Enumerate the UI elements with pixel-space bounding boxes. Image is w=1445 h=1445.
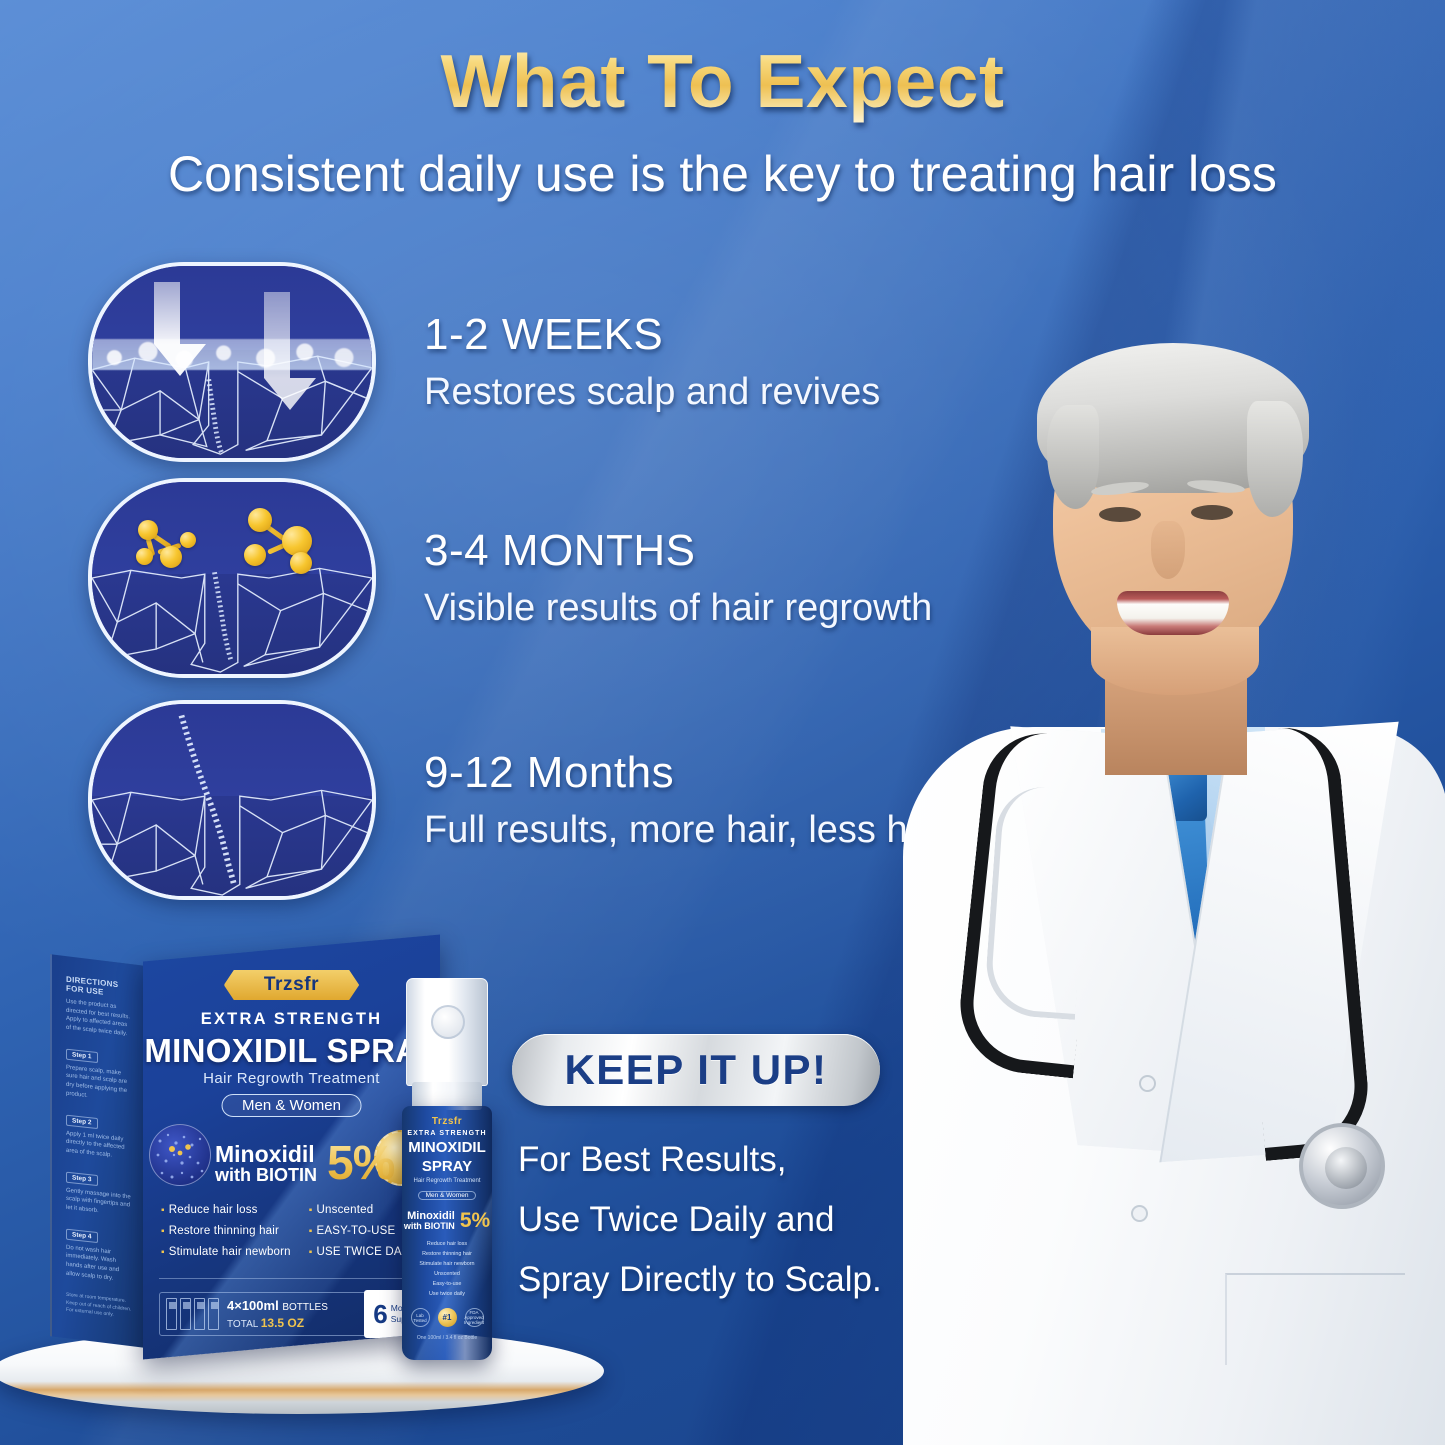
- bottle-benefit-item: Easy-to-use: [402, 1279, 492, 1289]
- lab-coat-button: [1133, 1207, 1146, 1220]
- package-product-name: MINOXIDIL SPRAY: [143, 1032, 440, 1070]
- bottle-benefit-item: Reduce hair loss: [402, 1239, 492, 1249]
- absorption-arrow-left: [154, 282, 180, 376]
- bottle-audience: Men & Women: [418, 1191, 477, 1200]
- bottle-volume-footer: One 100ml / 3.4 fl oz Bottle: [402, 1335, 492, 1341]
- package-particle-circle: [149, 1124, 211, 1186]
- bottle-benefit-item: Use twice daily: [402, 1289, 492, 1299]
- package-active-line1: Minoxidil: [215, 1142, 317, 1166]
- scalp-absorption-icon: [88, 262, 376, 462]
- direction-step-1-label: Step 1: [66, 1048, 98, 1062]
- bottle-extra-strength: EXTRA STRENGTH: [402, 1130, 492, 1137]
- package-active-ingredient: Minoxidil with BIOTIN 5%: [215, 1136, 394, 1191]
- foam-layer: [92, 339, 372, 370]
- package-benefit-item: Reduce hair loss: [161, 1204, 291, 1216]
- timeline-step-3: 9-12 Months Full results, more hair, les…: [88, 700, 1028, 900]
- package-total-label: TOTAL: [227, 1319, 258, 1330]
- doctor-eye-right: [1191, 505, 1233, 520]
- timeline-period-2: 3-4 MONTHS: [424, 526, 932, 575]
- direction-step-2-label: Step 2: [66, 1114, 98, 1128]
- package-quantity-text: 4×100ml BOTTLES TOTAL 13.5 OZ: [227, 1298, 328, 1330]
- dermis-mesh-2: [92, 482, 372, 674]
- doctor-smile: [1117, 591, 1229, 635]
- vial-icon: [208, 1298, 219, 1330]
- package-extra-strength: EXTRA STRENGTH: [143, 1010, 440, 1029]
- lab-coat-button: [1141, 1077, 1154, 1090]
- package-bottles-count: 4×100ml: [227, 1298, 279, 1313]
- timeline-step-1: 1-2 WEEKS Restores scalp and revives: [88, 262, 880, 462]
- dermis-mesh-3: [92, 704, 372, 896]
- supply-number: 6: [373, 1299, 387, 1330]
- timeline-step-2-text: 3-4 MONTHS Visible results of hair regro…: [424, 526, 932, 631]
- timeline-period-1: 1-2 WEEKS: [424, 310, 880, 359]
- lab-coat-pocket: [1225, 1273, 1405, 1365]
- rank-one-badge: #1: [438, 1308, 457, 1327]
- doctor-chin: [1091, 627, 1259, 695]
- direction-step-2-text: Apply 1 ml twice daily directly to the a…: [66, 1129, 133, 1162]
- vial-icon: [194, 1298, 205, 1330]
- bottle-active-ingredient: Minoxidil with BIOTIN 5%: [402, 1209, 492, 1233]
- package-treatment: Hair Regrowth Treatment: [143, 1070, 440, 1087]
- timeline-description-1: Restores scalp and revives: [424, 371, 880, 415]
- bottle-benefit-item: Restore thinning hair: [402, 1249, 492, 1259]
- page-subtitle: Consistent daily use is the key to treat…: [0, 145, 1445, 203]
- package-active-line2: with BIOTIN: [215, 1166, 317, 1185]
- direction-step-1-text: Prepare scalp, make sure hair and scalp …: [66, 1063, 133, 1105]
- package-brand: Trzsfr: [224, 970, 359, 1000]
- package-benefit-item: Restore thinning hair: [161, 1225, 291, 1237]
- absorption-arrow-right: [264, 292, 290, 410]
- doctor-nose: [1151, 521, 1185, 579]
- package-fine-print: Store at room temperature. Keep out of r…: [66, 1292, 133, 1322]
- direction-step-3-label: Step 3: [66, 1171, 98, 1185]
- bottle-benefits: Reduce hair loss Restore thinning hair S…: [402, 1239, 492, 1299]
- product-package: DIRECTIONS FOR USE Use the product as di…: [50, 948, 440, 1358]
- bottle-benefit-item: Stimulate hair newborn: [402, 1259, 492, 1269]
- molecule-cluster-left: [136, 516, 198, 572]
- package-total-value: 13.5 OZ: [261, 1316, 304, 1330]
- directions-heading: DIRECTIONS FOR USE: [66, 975, 133, 1000]
- spray-bottle: Trzsfr EXTRA STRENGTH MINOXIDIL SPRAY Ha…: [398, 978, 496, 1360]
- keep-it-up-label: KEEP IT UP!: [564, 1046, 827, 1094]
- bottle-cap: [406, 978, 488, 1086]
- package-audience: Men & Women: [221, 1094, 362, 1117]
- package-benefit-item: Stimulate hair newborn: [161, 1246, 291, 1258]
- package-benefits: Reduce hair loss Restore thinning hair S…: [161, 1204, 423, 1267]
- doctor-eye-left: [1099, 507, 1141, 522]
- bottle-active-line2: with BIOTIN: [404, 1222, 455, 1231]
- directions-intro: Use the product as directed for best res…: [66, 998, 133, 1040]
- direction-step-3-text: Gently massage into the scalp with finge…: [66, 1186, 133, 1219]
- fda-ingredient-badge: FDA Approved Ingredient: [465, 1308, 484, 1327]
- doctor-gray-hair: [1037, 343, 1309, 493]
- particle-dots: [150, 1125, 211, 1186]
- bottle-name-line2: SPRAY: [402, 1159, 492, 1175]
- bottle-brand: Trzsfr: [402, 1116, 492, 1127]
- package-bottles-label: BOTTLES: [282, 1302, 328, 1313]
- timeline-step-1-text: 1-2 WEEKS Restores scalp and revives: [424, 310, 880, 415]
- direction-step-4-label: Step 4: [66, 1228, 98, 1242]
- scalp-hair-growth-icon: [88, 700, 376, 900]
- direction-step-4-text: Do not wash hair immediately. Wash hands…: [66, 1243, 133, 1285]
- lab-tested-badge: Lab Tested: [411, 1308, 430, 1327]
- scalp-molecules-icon: [88, 478, 376, 678]
- bottle-badges: Lab Tested #1 FDA Approved Ingredient: [402, 1308, 492, 1327]
- package-side-panel: DIRECTIONS FOR USE Use the product as di…: [50, 954, 145, 1348]
- package-active-percent: 5%: [327, 1136, 394, 1191]
- bottle-benefit-item: Unscented: [402, 1269, 492, 1279]
- bottle-treatment: Hair Regrowth Treatment: [402, 1178, 492, 1184]
- page-title: What To Expect: [0, 38, 1445, 124]
- vial-icons: [166, 1298, 219, 1330]
- keep-it-up-banner: KEEP IT UP!: [512, 1034, 880, 1106]
- bottle-label: Trzsfr EXTRA STRENGTH MINOXIDIL SPRAY Ha…: [402, 1106, 492, 1360]
- vial-icon: [180, 1298, 191, 1330]
- package-quantity-box: 4×100ml BOTTLES TOTAL 13.5 OZ: [159, 1292, 379, 1336]
- timeline-step-2: 3-4 MONTHS Visible results of hair regro…: [88, 478, 932, 678]
- stethoscope-chestpiece: [1299, 1123, 1385, 1209]
- bottle-name-line1: MINOXIDIL: [402, 1140, 492, 1156]
- bottle-active-percent: 5%: [460, 1209, 490, 1233]
- doctor-photo: [895, 335, 1445, 1445]
- vial-icon: [166, 1298, 177, 1330]
- package-front-panel: Trzsfr EXTRA STRENGTH MINOXIDIL SPRAY Ha…: [143, 934, 440, 1359]
- molecule-cluster-right: [244, 506, 322, 576]
- package-benefits-left: Reduce hair loss Restore thinning hair S…: [161, 1204, 291, 1267]
- timeline-description-2: Visible results of hair regrowth: [424, 587, 932, 631]
- package-divider: [159, 1278, 425, 1279]
